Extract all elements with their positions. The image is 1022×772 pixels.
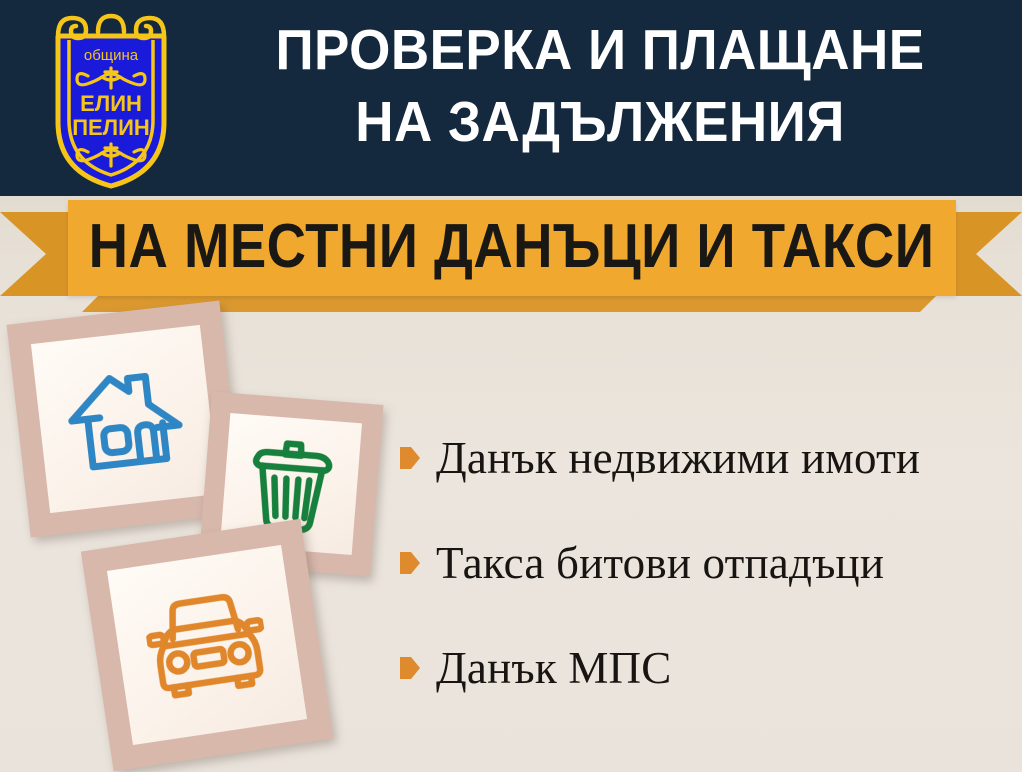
poster-canvas: ПРОВЕРКА И ПЛАЩАНЕ НА ЗАДЪЛЖЕНИЯ [0,0,1022,772]
stamp-card-vehicle [81,519,333,771]
arrow-bullet-icon [400,447,420,469]
list-item-label: Такса битови отпадъци [436,538,884,588]
arrow-bullet-icon [400,657,420,679]
list-item[interactable]: Данък МПС [400,642,1010,694]
subtitle-ribbon: НА МЕСТНИ ДАНЪЦИ И ТАКСИ [0,196,1022,316]
crest-label-pelin: ПЕЛИН [72,115,150,140]
car-icon [81,519,333,771]
crest-label-obshtina: община [84,47,139,64]
crest-label-elin: ЕЛИН [80,91,142,116]
ribbon-label: НА МЕСТНИ ДАНЪЦИ И ТАКСИ [89,216,935,281]
list-item[interactable]: Данък недвижими имоти [400,432,1010,484]
list-item-label: Данък МПС [436,643,671,693]
services-list: Данък недвижими имоти Такса битови отпад… [400,432,1010,694]
arrow-bullet-icon [400,552,420,574]
ribbon-body: НА МЕСТНИ ДАНЪЦИ И ТАКСИ [68,200,956,296]
municipality-crest-logo: община ЕЛИН ПЕЛИН [36,10,186,190]
page-title: ПРОВЕРКА И ПЛАЩАНЕ НА ЗАДЪЛЖЕНИЯ [219,14,982,158]
list-item[interactable]: Такса битови отпадъци [400,537,1010,589]
crest-icon: община ЕЛИН ПЕЛИН [36,10,186,190]
list-item-label: Данък недвижими имоти [436,433,920,483]
